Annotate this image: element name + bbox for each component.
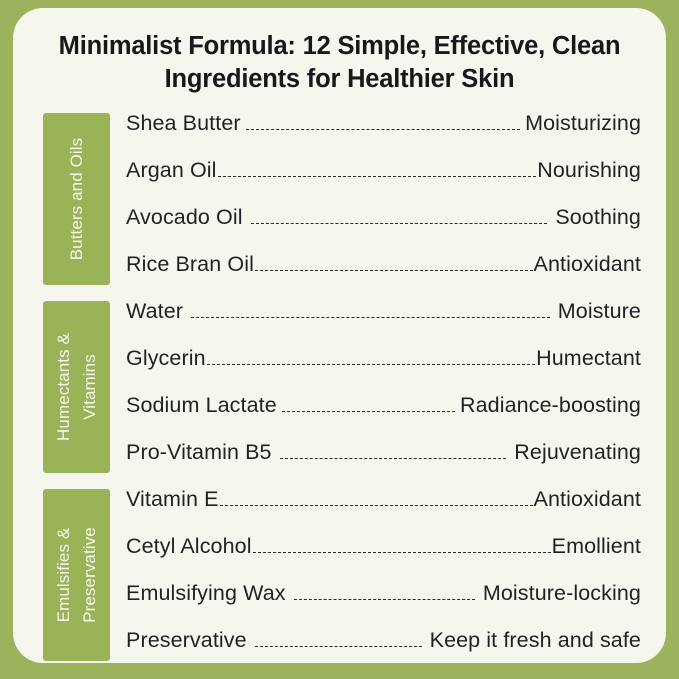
leader-dots [280,458,507,459]
ingredient-name: Avocado Oil [126,205,243,230]
ingredient-row: Glycerin Humectant [126,346,641,393]
ingredient-name: Sodium Lactate [126,393,277,418]
leader-dots [282,411,455,412]
infographic-poster: Minimalist Formula: 12 Simple, Effective… [0,0,679,679]
group-rows: Water Moisture Glycerin Humectant Sodium… [126,299,648,487]
group-label-humectants-and-vitamins: Humectants & Vitamins [43,301,110,473]
page-title: Minimalist Formula: 12 Simple, Effective… [31,30,648,96]
ingredient-row: Emulsifying Wax Moisture-locking [126,581,641,628]
ingredient-benefit: Moisture [558,299,641,324]
ingredient-benefit: Keep it fresh and safe [430,628,641,653]
ingredient-name: Cetyl Alcohol [126,534,252,559]
content-card: Minimalist Formula: 12 Simple, Effective… [13,8,666,663]
leader-dots [246,129,520,130]
group-label-text: Butters and Oils [64,113,90,285]
ingredient-row: Preservative Keep it fresh and safe [126,628,641,663]
ingredient-row: Argan Oil Nourishing [126,158,641,205]
ingredient-benefit: Antioxidant [534,487,641,512]
ingredient-group: Humectants & Vitamins Water Moisture Gly… [13,301,666,481]
ingredient-benefit: Moisturizing [525,111,641,136]
leader-dots [255,646,422,647]
ingredient-benefit: Rejuvenating [514,440,641,465]
ingredient-benefit: Emollient [552,534,641,559]
ingredient-benefit: Soothing [555,205,641,230]
leader-dots [207,364,535,365]
ingredient-name: Vitamin E [126,487,219,512]
ingredient-group: Butters and Oils Shea Butter Moisturizin… [13,113,666,293]
ingredient-benefit: Radiance-boosting [460,393,641,418]
group-rows: Vitamin E Antioxidant Cetyl Alcohol Emol… [126,487,648,663]
ingredient-row: Avocado Oil Soothing [126,205,641,252]
leader-dots [253,552,551,553]
group-rows: Shea Butter Moisturizing Argan Oil Nouri… [126,111,648,299]
leader-dots [220,505,533,506]
ingredient-row: Cetyl Alcohol Emollient [126,534,641,581]
ingredient-row: Vitamin E Antioxidant [126,487,641,534]
group-label-text: Emulsifies & Preservative [51,489,103,661]
group-label-text: Humectants & Vitamins [51,301,103,473]
ingredient-name: Argan Oil [126,158,217,183]
ingredient-benefit: Humectant [536,346,641,371]
ingredient-groups: Butters and Oils Shea Butter Moisturizin… [13,113,666,663]
ingredient-name: Glycerin [126,346,206,371]
ingredient-row: Water Moisture [126,299,641,346]
ingredient-row: Shea Butter Moisturizing [126,111,641,158]
leader-dots [218,176,537,177]
group-label-emulsifies-and-preservative: Emulsifies & Preservative [43,489,110,661]
ingredient-benefit: Moisture-locking [483,581,641,606]
ingredient-name: Emulsifying Wax [126,581,286,606]
leader-dots [191,317,550,318]
ingredient-name: Pro-Vitamin B5 [126,440,272,465]
ingredient-name: Water [126,299,183,324]
ingredient-name: Shea Butter [126,111,241,136]
ingredient-row: Rice Bran Oil Antioxidant [126,252,641,299]
ingredient-group: Emulsifies & Preservative Vitamin E Anti… [13,489,666,663]
leader-dots [251,223,548,224]
ingredient-name: Rice Bran Oil [126,252,254,277]
ingredient-row: Sodium Lactate Radiance-boosting [126,393,641,440]
ingredient-benefit: Nourishing [537,158,641,183]
leader-dots [255,270,533,271]
ingredient-name: Preservative [126,628,247,653]
ingredient-row: Pro-Vitamin B5 Rejuvenating [126,440,641,487]
ingredient-benefit: Antioxidant [534,252,641,277]
leader-dots [294,599,475,600]
group-label-butters-and-oils: Butters and Oils [43,113,110,285]
